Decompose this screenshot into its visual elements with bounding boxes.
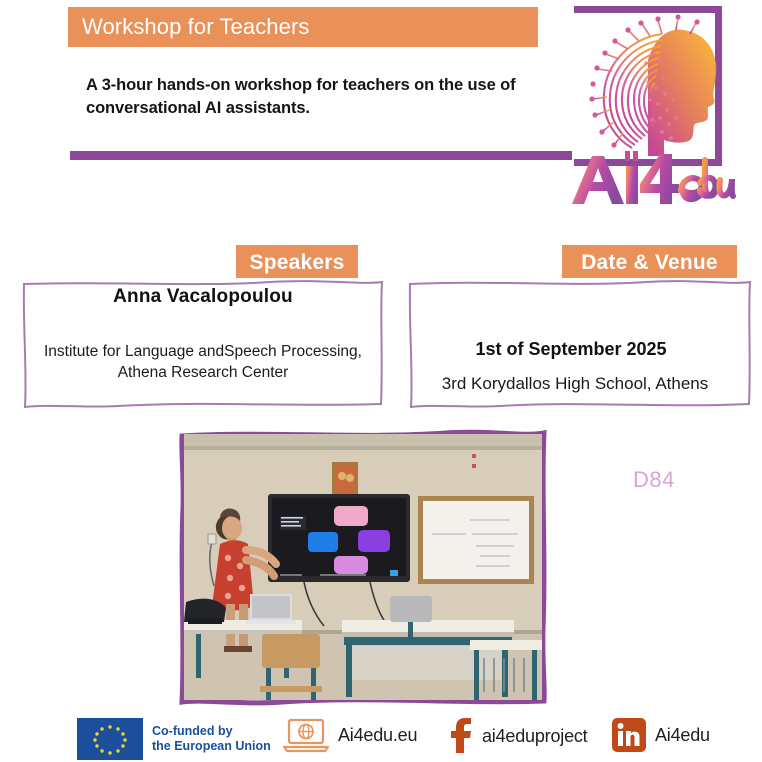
ai4edu-wordmark: [568, 146, 740, 212]
footer-eu-label: Co-funded by the European Union: [152, 724, 271, 754]
facebook-icon: [447, 718, 473, 754]
page-title: Workshop for Teachers: [68, 7, 538, 47]
date-venue-badge: Date & Venue: [562, 245, 737, 281]
footer-linkedin[interactable]: Ai4edu: [612, 718, 710, 752]
laptop-globe-icon: [283, 717, 329, 753]
event-venue: 3rd Korydallos High School, Athens: [408, 374, 742, 394]
header-banner: Workshop for Teachers: [68, 7, 538, 47]
footer-eu-funding: Co-funded by the European Union: [77, 718, 271, 760]
speakers-badge: Speakers: [236, 245, 358, 281]
header-divider: [70, 151, 572, 160]
event-date: 1st of September 2025: [408, 339, 734, 360]
classroom-scene: [184, 434, 542, 700]
speakers-card: Anna Vacalopoulou Institute for Language…: [22, 278, 384, 410]
footer-linkedin-label: Ai4edu: [655, 725, 710, 746]
photo-image: [184, 434, 542, 700]
ai4edu-logo: [566, 0, 758, 212]
footer-website-label: Ai4edu.eu: [338, 725, 417, 746]
header-subtitle: A 3-hour hands-on workshop for teachers …: [86, 74, 576, 120]
date-venue-card: 1st of September 2025 3rd Korydallos Hig…: [408, 278, 752, 410]
eu-flag-icon: [77, 718, 143, 760]
footer-facebook[interactable]: ai4eduproject: [447, 718, 587, 754]
deck-id-label: D84: [633, 467, 675, 493]
speaker-name: Anna Vacalopoulou: [22, 286, 384, 308]
footer-website[interactable]: Ai4edu.eu: [283, 717, 417, 753]
footer-facebook-label: ai4eduproject: [482, 726, 587, 747]
workshop-photo: [178, 428, 548, 706]
footer: Co-funded by the European Union Ai4edu.e…: [0, 706, 762, 762]
speaker-affiliation: Institute for Language andSpeech Process…: [40, 341, 366, 383]
linkedin-icon: [612, 718, 646, 752]
